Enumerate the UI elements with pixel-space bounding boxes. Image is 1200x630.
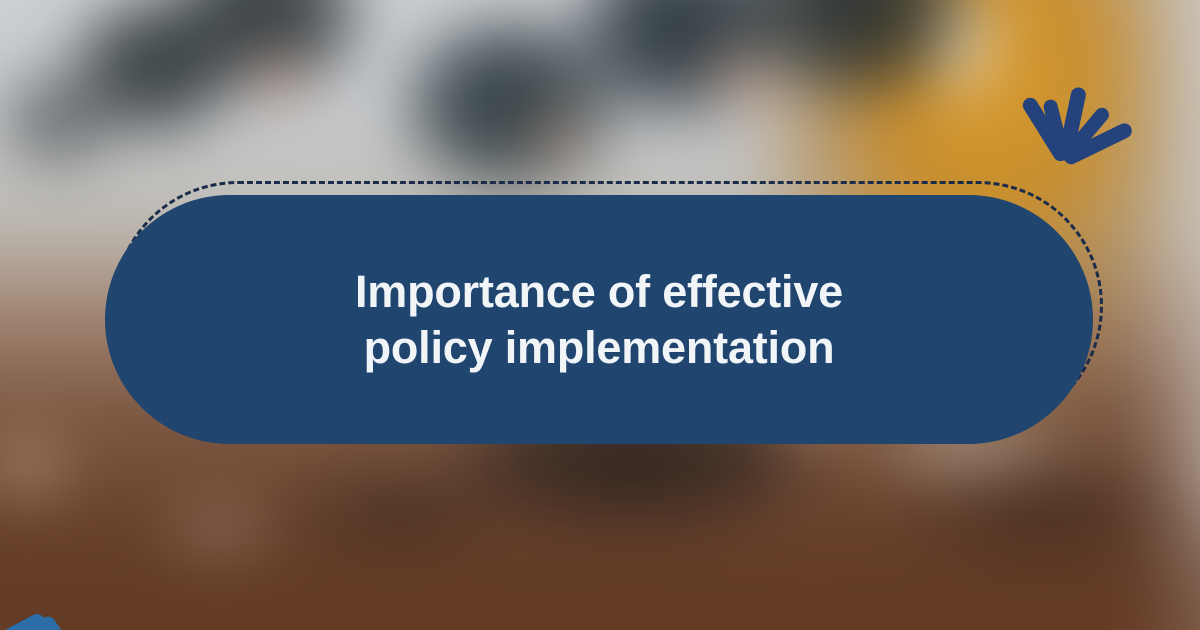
sparkle-burst-icon-bottom-left xyxy=(0,448,186,630)
title-card: Importance of effective policy implement… xyxy=(105,195,1093,444)
title-card-graphic: Importance of effective policy implement… xyxy=(0,0,1200,630)
sparkle-ray xyxy=(0,611,48,630)
sparkle-burst-icon-top-right xyxy=(1006,0,1200,190)
page-title: Importance of effective policy implement… xyxy=(289,264,909,376)
